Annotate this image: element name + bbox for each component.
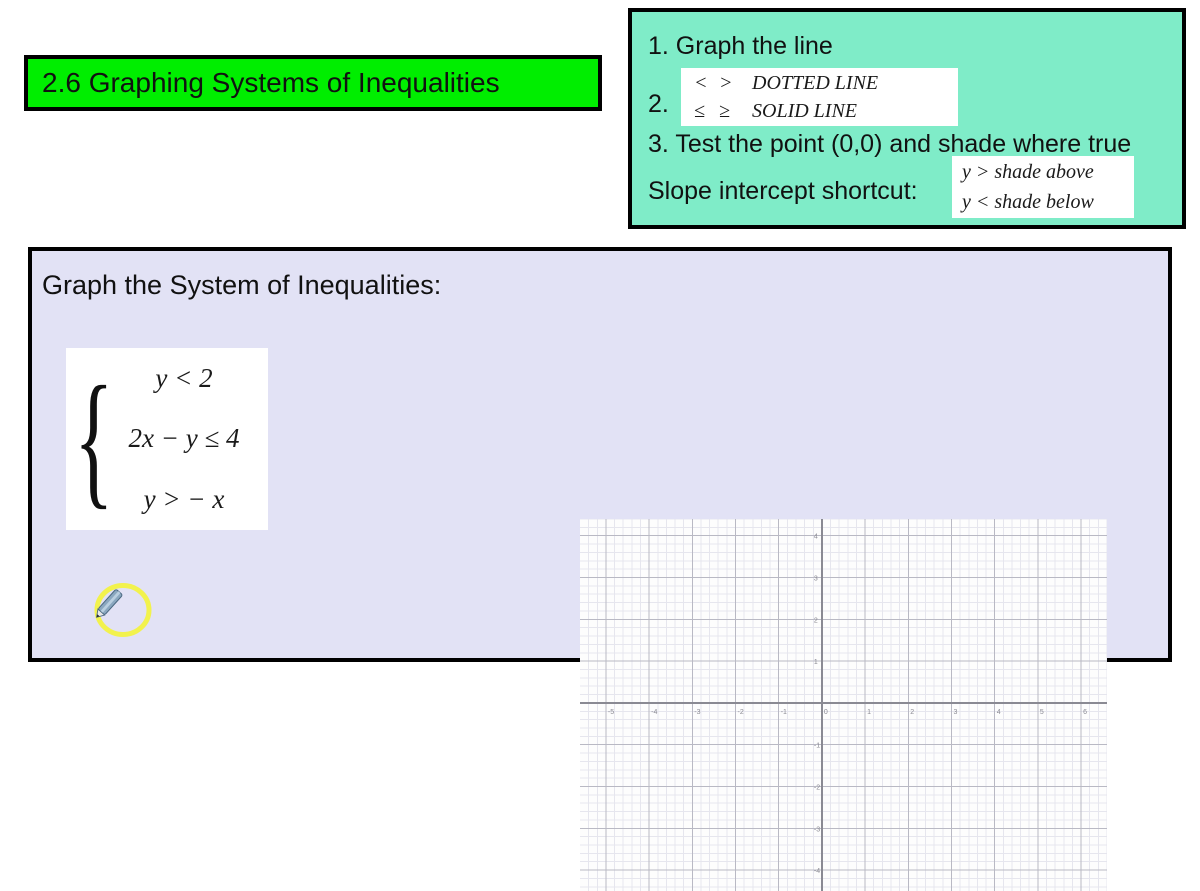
- dotted-line-rule: < > DOTTED LINE: [694, 69, 958, 97]
- slope-intercept-shortcut-label: Slope intercept shortcut:: [648, 177, 918, 206]
- greater-than-or-equal-symbol: ≥: [719, 97, 747, 125]
- coordinate-grid[interactable]: -5-4-3-2-10123456-4-3-2-11234: [580, 519, 1107, 891]
- step-1-text: 1. Graph the line: [648, 32, 833, 61]
- steps-instruction-box: 1. Graph the line 2. < > DOTTED LINE ≤ ≥…: [628, 8, 1186, 229]
- x-tick-label: 2: [910, 709, 914, 716]
- y-tick-label: 3: [814, 576, 818, 583]
- work-panel: Graph the System of Inequalities: { y < …: [28, 247, 1172, 662]
- ink-tool-annotation: [94, 583, 154, 641]
- less-than-or-equal-symbol: ≤: [694, 97, 714, 125]
- page-title: 2.6 Graphing Systems of Inequalities: [28, 67, 500, 99]
- x-tick-label: -1: [781, 709, 787, 716]
- step-2-number: 2.: [648, 90, 669, 119]
- greater-than-symbol: >: [719, 69, 747, 97]
- x-tick-label: 5: [1040, 709, 1044, 716]
- x-tick-label: -5: [608, 709, 614, 716]
- inequality-2: 2x − y ≤ 4: [128, 423, 239, 454]
- x-tick-label: -2: [738, 709, 744, 716]
- shading-rule-card: y > shade above y < shade below: [952, 156, 1134, 218]
- x-tick-label: 6: [1083, 709, 1087, 716]
- solid-line-label: SOLID LINE: [752, 100, 857, 122]
- y-tick-label: -2: [814, 785, 820, 792]
- lesson-title-box: 2.6 Graphing Systems of Inequalities: [24, 55, 602, 111]
- y-tick-label: 2: [814, 617, 818, 624]
- y-tick-label: 4: [814, 534, 818, 541]
- y-tick-label: 1: [814, 659, 818, 666]
- x-tick-label: 3: [953, 709, 957, 716]
- y-tick-label: -4: [814, 868, 820, 875]
- pencil-icon: [94, 589, 123, 620]
- y-tick-label: -1: [814, 743, 820, 750]
- inequality-1: y < 2: [155, 363, 212, 394]
- system-of-inequalities-card: { y < 2 2x − y ≤ 4 y > − x: [66, 348, 268, 530]
- grid-background: [580, 519, 1107, 891]
- prompt-heading: Graph the System of Inequalities:: [42, 270, 441, 301]
- x-tick-label: 1: [867, 709, 871, 716]
- x-tick-label: 4: [997, 709, 1001, 716]
- y-tick-label: -3: [814, 826, 820, 833]
- x-tick-label: -3: [694, 709, 700, 716]
- dotted-line-label: DOTTED LINE: [752, 72, 878, 94]
- inequalities-list: y < 2 2x − y ≤ 4 y > − x: [100, 348, 268, 530]
- solid-line-rule: ≤ ≥ SOLID LINE: [694, 97, 958, 125]
- line-type-rule-card: < > DOTTED LINE ≤ ≥ SOLID LINE: [681, 68, 958, 126]
- shade-above-rule: y > shade above: [962, 157, 1134, 187]
- x-tick-label: 0: [824, 709, 828, 716]
- step-3-text: 3. Test the point (0,0) and shade where …: [648, 130, 1131, 159]
- inequality-3: y > − x: [144, 484, 225, 515]
- yellow-circle-highlight: [97, 586, 149, 635]
- x-tick-label: -4: [651, 709, 657, 716]
- less-than-symbol: <: [694, 69, 714, 97]
- coordinate-grid-svg: -5-4-3-2-10123456-4-3-2-11234: [580, 519, 1107, 891]
- shade-below-rule: y < shade below: [962, 187, 1134, 217]
